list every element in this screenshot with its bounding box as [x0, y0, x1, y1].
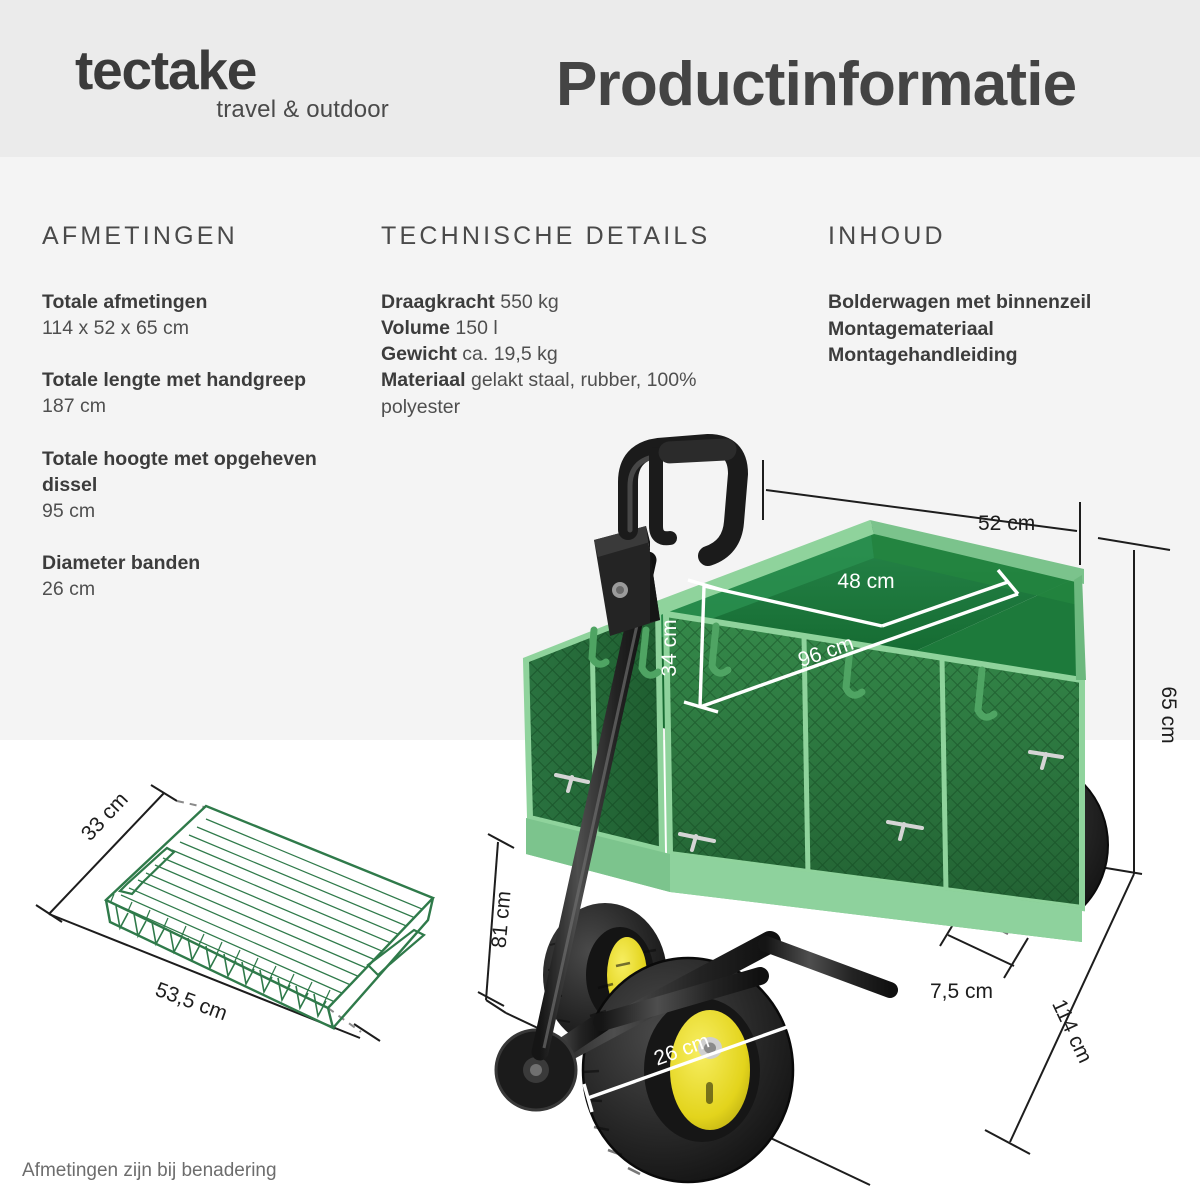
cart-overall-height-label: 65 cm: [1157, 686, 1180, 743]
spec-label: Volume: [381, 317, 450, 339]
contents-item: Montagehandleiding: [828, 342, 1168, 369]
basket-depth-label: 33 cm: [77, 788, 133, 846]
spec-label: Materiaal: [381, 369, 466, 391]
column-contents: INHOUD Bolderwagen met binnenzeil Montag…: [828, 222, 1168, 369]
spec-weight: Gewicht ca. 19,5 kg: [381, 341, 711, 367]
brand-logo-name: tectake: [75, 42, 395, 98]
spec-value: 150 l: [455, 317, 497, 339]
cart-overall-length-label: 114 cm: [1047, 996, 1096, 1067]
spec-load-capacity: Draagkracht 550 kg: [381, 289, 711, 315]
spec-value: 26 cm: [42, 576, 342, 602]
tow-bar-mount: [594, 526, 660, 636]
cart-ground-clearance-label: 7,5 cm: [930, 980, 993, 1003]
spec-material: Materiaal gelakt staal, rubber, 100% pol…: [381, 367, 711, 419]
basket-wire-body: [106, 806, 438, 1036]
page-title: Productinformatie: [556, 54, 1076, 116]
header-band: tectake travel & outdoor Productinformat…: [0, 0, 1200, 157]
contents-item: Montagemateriaal: [828, 316, 1168, 343]
cart-inner-width-label: 52 cm: [978, 512, 1035, 535]
spec-total-length-handle: Totale lengte met handgreep 187 cm: [42, 367, 342, 419]
column-dimensions: AFMETINGEN Totale afmetingen 114 x 52 x …: [42, 222, 342, 602]
spec-label: Totale afmetingen: [42, 289, 342, 315]
spec-value: 114 x 52 x 65 cm: [42, 315, 342, 341]
column-dimensions-heading: AFMETINGEN: [42, 222, 342, 251]
spec-tyre-diameter: Diameter banden 26 cm: [42, 550, 342, 602]
spec-label: Totale hoogte met opgeheven dissel: [42, 446, 342, 498]
cart-inner-top-width-label: 48 cm: [837, 570, 894, 593]
spec-value: 550 kg: [500, 291, 559, 313]
spec-label: Draagkracht: [381, 291, 495, 313]
cart-body: [496, 438, 1108, 1182]
cart-handle-height-label: 81 cm: [488, 890, 516, 949]
spec-volume: Volume 150 l: [381, 315, 711, 341]
footer-note: Afmetingen zijn bij benadering: [22, 1160, 277, 1182]
spec-total-dimensions: Totale afmetingen 114 x 52 x 65 cm: [42, 289, 342, 341]
spec-total-height-raised-drawbar: Totale hoogte met opgeheven dissel 95 cm: [42, 446, 342, 524]
spec-value: 187 cm: [42, 393, 342, 419]
cart-illustration: 52 cm 48 cm 34 cm 96 cm 65 cm 7,5 cm 114…: [470, 430, 1200, 1185]
cart-inner-height-label: 34 cm: [658, 619, 681, 676]
product-info-sheet: tectake travel & outdoor Productinformat…: [0, 0, 1200, 1199]
spec-label: Diameter banden: [42, 550, 342, 576]
spec-value: 95 cm: [42, 498, 342, 524]
contents-item: Bolderwagen met binnenzeil: [828, 289, 1168, 316]
brand-logo: tectake travel & outdoor: [75, 42, 395, 124]
column-contents-heading: INHOUD: [828, 222, 1168, 251]
basket-illustration: 33 cm 53,5 cm: [28, 770, 480, 1070]
spec-label: Gewicht: [381, 343, 457, 365]
column-technical-details: TECHNISCHE DETAILS Draagkracht 550 kg Vo…: [381, 222, 711, 420]
basket-length-label: 53,5 cm: [152, 978, 230, 1025]
column-technical-heading: TECHNISCHE DETAILS: [381, 222, 711, 251]
spec-value: ca. 19,5 kg: [462, 343, 557, 365]
spec-label: Totale lengte met handgreep: [42, 367, 342, 393]
